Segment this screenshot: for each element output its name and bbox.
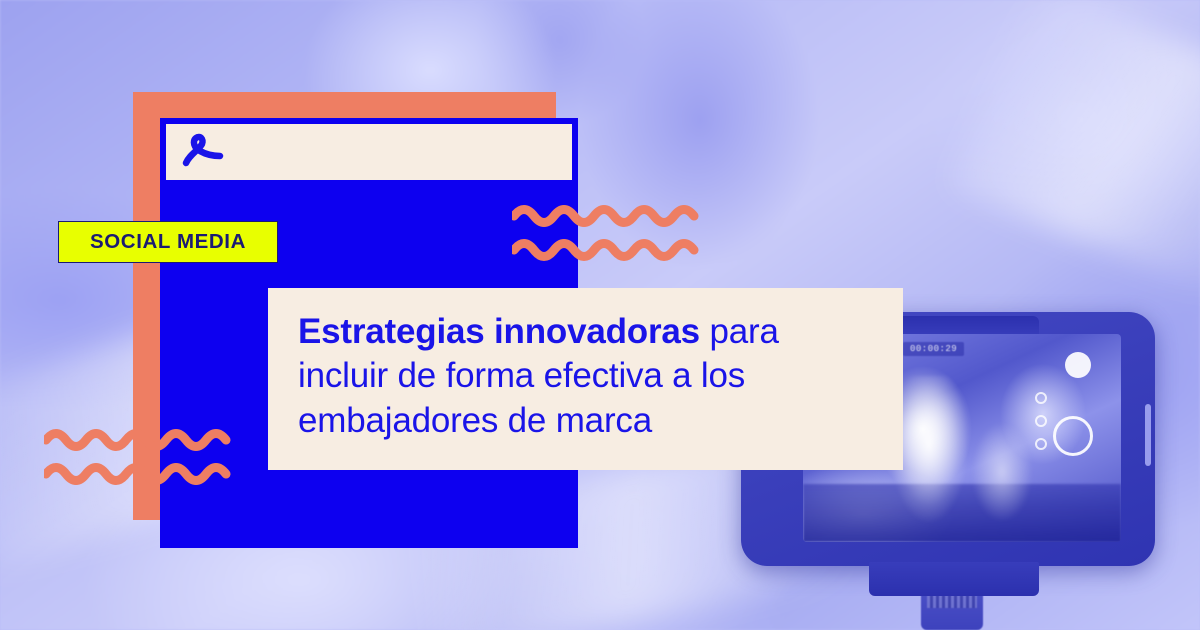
camera-mode-dots-icon [1035,392,1047,461]
screen-subject-secondary [963,412,1041,532]
camera-flash-dot-icon [1065,352,1091,378]
title-line2: incluir de forma efectiva a los [298,356,745,395]
title-highlight: Estrategias innovadoras [298,312,700,351]
title-line3: embajadores de marca [298,401,652,440]
category-badge: SOCIAL MEDIA [58,221,278,263]
title-line1-rest: para [700,312,779,351]
squiggle-loop-mark-icon [180,132,224,172]
category-badge-label: SOCIAL MEDIA [90,230,246,254]
cover-image: 00:00:29 SOCIAL MEDIA [0,0,1200,630]
wavy-lines-bottom-left-icon [44,424,252,490]
card-top-bar [166,124,572,180]
title-panel: Estrategias innovadoras para incluir de … [268,288,903,470]
page-title: Estrategias innovadoras para incluir de … [298,310,873,443]
phone-side-button [1145,404,1151,466]
phone-clip-bottom [869,562,1039,596]
wavy-lines-top-right-icon [512,200,720,266]
recording-timer: 00:00:29 [903,342,964,356]
camera-shutter-button-icon [1053,416,1093,456]
